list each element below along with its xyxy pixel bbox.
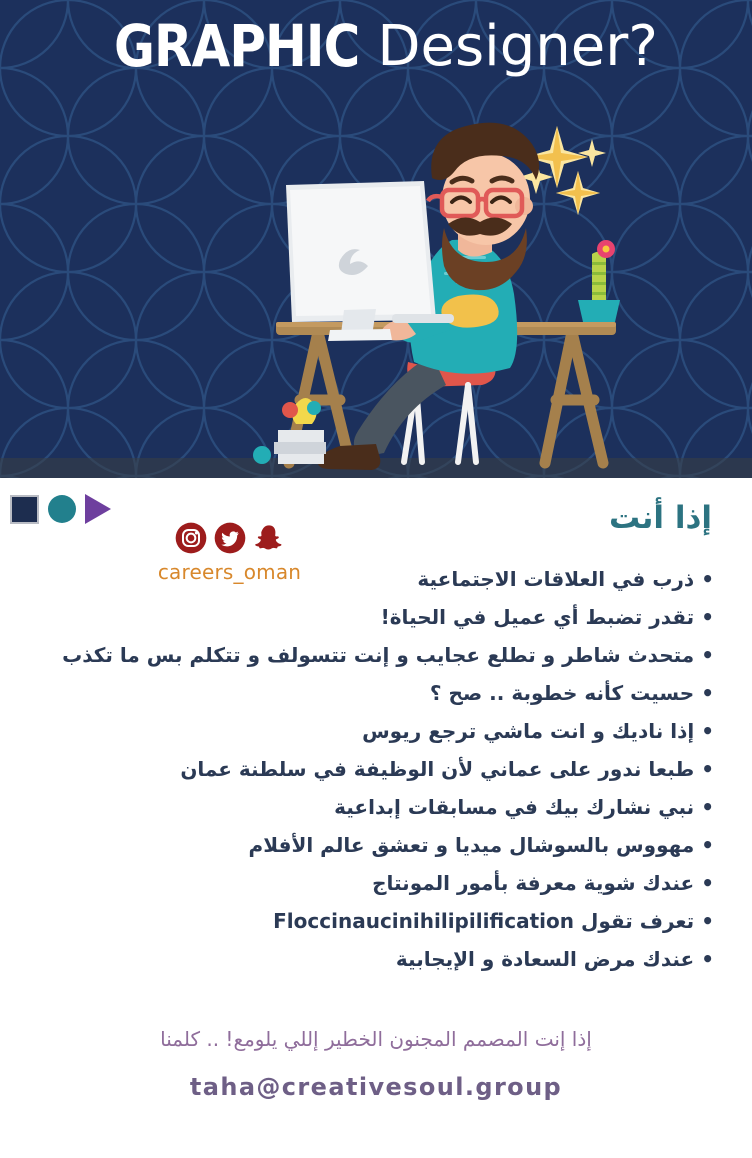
list-item: ذرب في العلاقات الاجتماعية — [14, 560, 714, 598]
hero-title-light: Designer? — [377, 14, 658, 79]
list-item: عندك مرض السعادة و الإيجابية — [14, 940, 714, 978]
brand-logo-shapes — [10, 494, 111, 524]
footer-tagline: إذا إنت المصمم المجنون الخطير إللي يلومع… — [0, 1027, 752, 1051]
instagram-icon[interactable] — [175, 522, 207, 554]
list-item: نبي نشارك بيك في مسابقات إبداعية — [14, 788, 714, 826]
hero-banner: GRAPHICDesigner? — [0, 0, 752, 478]
keyboard — [392, 314, 454, 323]
square-shape-icon — [10, 495, 39, 524]
list-item: عندك شوية معرفة بأمور المونتاج — [14, 864, 714, 902]
person-legs — [354, 355, 446, 457]
hero-title: GRAPHICDesigner? — [0, 12, 752, 80]
list-item: طبعا ندور على عماني لأن الوظيفة في سلطنة… — [14, 750, 714, 788]
contact-email[interactable]: taha@creativesoul.group — [0, 1073, 752, 1101]
social-icon-row — [157, 522, 302, 554]
hero-title-bold: GRAPHIC — [114, 12, 359, 80]
cactus-plant — [578, 240, 620, 322]
footer-block: إذا إنت المصمم المجنون الخطير إللي يلومع… — [0, 1027, 752, 1101]
snapchat-icon[interactable] — [253, 522, 285, 554]
list-item: تعرف تقول Floccinaucinihilipilification — [14, 902, 714, 940]
list-item: متحدث شاطر و تطلع عجايب و إنت تتسولف و ت… — [14, 636, 714, 674]
triangle-shape-icon — [85, 494, 111, 524]
books-stack — [274, 398, 326, 464]
list-item: تقدر تضبط أي عميل في الحياة! — [14, 598, 714, 636]
list-item: مهووس بالسوشال ميديا و تعشق عالم الأفلام — [14, 826, 714, 864]
ball-decoration — [253, 446, 271, 464]
twitter-icon[interactable] — [214, 522, 246, 554]
requirements-list: ذرب في العلاقات الاجتماعية تقدر تضبط أي … — [14, 560, 714, 978]
section-heading: إذا أنت — [609, 500, 712, 536]
content-area: careers_oman إذا أنت ذرب في العلاقات الا… — [0, 478, 752, 1158]
list-item: إذا ناديك و انت ماشي ترجع ريوس — [14, 712, 714, 750]
list-item: حسيت كأنه خطوبة .. صح ؟ — [14, 674, 714, 712]
person-shoe — [318, 444, 381, 470]
circle-shape-icon — [48, 495, 76, 523]
